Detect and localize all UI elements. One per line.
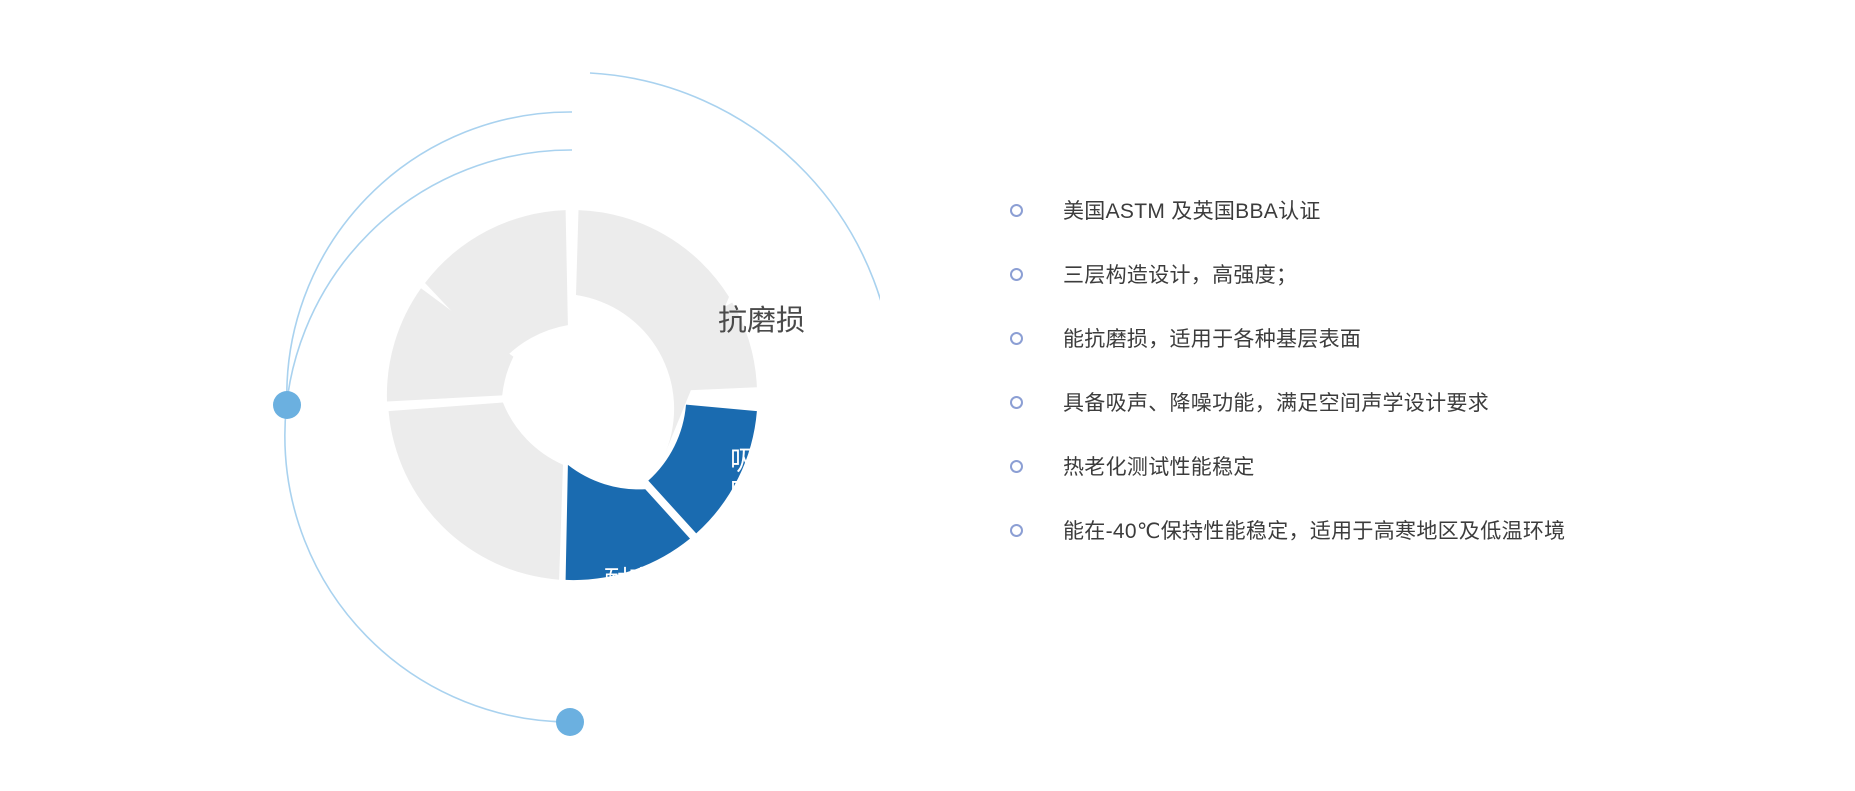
donut-segment-unlabeled-bottom-left[interactable] [389,403,563,580]
bullet-circle-icon [1010,524,1023,537]
bullet-circle-icon [1010,396,1023,409]
donut-label-temperature-line2: 抗寒 [620,598,670,626]
donut-label-sound-absorption-line2: 降噪 [730,479,784,509]
list-item[interactable]: 三层构造设计，高强度； [1010,242,1830,306]
bullet-circle-icon [1010,460,1023,473]
list-item[interactable]: 能抗磨损，适用于各种基层表面 [1010,306,1830,370]
feature-list: 美国ASTM 及英国BBA认证 三层构造设计，高强度； 能抗磨损，适用于各种基层… [1010,178,1830,562]
arc-endpoint-dot-bottom[interactable] [556,708,584,736]
feature-text: 具备吸声、降噪功能，满足空间声学设计要求 [1063,387,1489,417]
list-item[interactable]: 具备吸声、降噪功能，满足空间声学设计要求 [1010,370,1830,434]
infographic-page: 抗磨损 吸音 降噪 耐高温/ 抗寒 美国ASTM 及英国BBA认证 三层构造设计… [0,0,1855,791]
bullet-circle-icon [1010,332,1023,345]
feature-text: 美国ASTM 及英国BBA认证 [1063,195,1321,225]
donut-chart-svg: 抗磨损 吸音 降噪 耐高温/ 抗寒 [0,0,880,791]
bullet-circle-icon [1010,268,1023,281]
arc-endpoint-dot-left[interactable] [273,391,301,419]
feature-text: 热老化测试性能稳定 [1063,451,1255,481]
list-item[interactable]: 美国ASTM 及英国BBA认证 [1010,178,1830,242]
bullet-circle-icon [1010,204,1023,217]
list-item[interactable]: 热老化测试性能稳定 [1010,434,1830,498]
feature-text: 三层构造设计，高强度； [1063,259,1297,289]
feature-text: 能在-40℃保持性能稳定，适用于高寒地区及低温环境 [1063,515,1565,545]
feature-text: 能抗磨损，适用于各种基层表面 [1063,323,1361,353]
donut-label-temperature-line1: 耐高温/ [604,566,686,594]
donut-label-wear-resistance: 抗磨损 [718,304,805,337]
donut-chart-container: 抗磨损 吸音 降噪 耐高温/ 抗寒 [0,0,880,791]
donut-label-sound-absorption-line1: 吸音 [730,446,784,476]
list-item[interactable]: 能在-40℃保持性能稳定，适用于高寒地区及低温环境 [1010,498,1830,562]
